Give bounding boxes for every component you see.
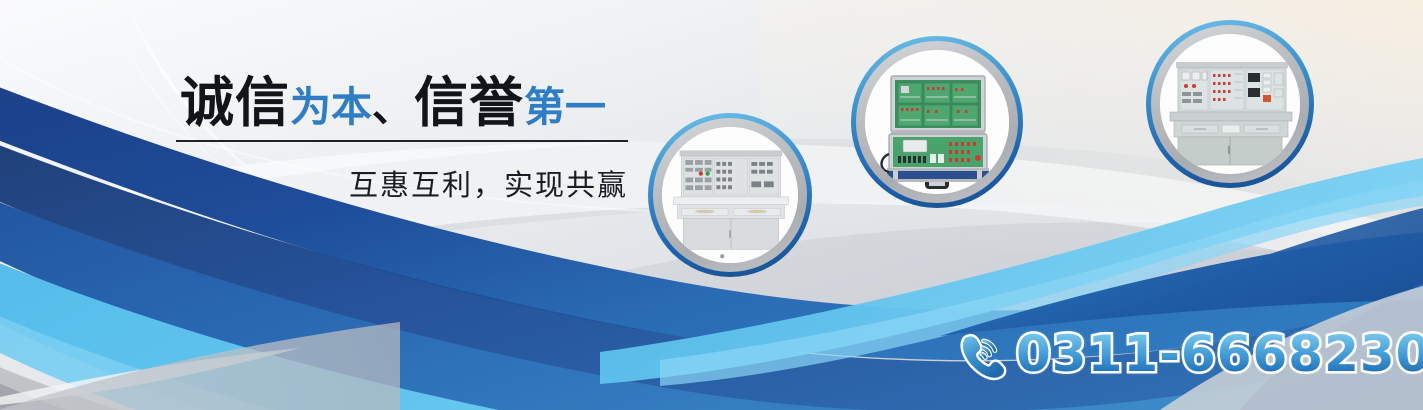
headline-block: 诚信为本、信誉第一 互惠互利，实现共赢 bbox=[176, 76, 628, 204]
headline-part-4: 第一 bbox=[524, 84, 606, 130]
product-image-1 bbox=[662, 127, 798, 263]
promotional-banner: 诚信为本、信誉第一 互惠互利，实现共赢 bbox=[0, 0, 1423, 410]
product-image-3 bbox=[1160, 34, 1300, 174]
headline-part-3: 信誉 bbox=[414, 73, 524, 133]
phone-call-icon bbox=[952, 326, 1008, 382]
product-circle-2[interactable] bbox=[851, 36, 1023, 208]
product-circle-1[interactable] bbox=[648, 113, 812, 277]
subtitle: 互惠互利，实现共赢 bbox=[176, 142, 628, 204]
phone-number-text: 0311-66682303 bbox=[1016, 325, 1423, 383]
headline-part-1: 诚信 bbox=[180, 73, 290, 133]
product-image-2 bbox=[865, 50, 1009, 194]
phone-number[interactable]: 0311-66682303 0311-66682303 bbox=[1016, 329, 1423, 379]
contact-phone-block[interactable]: 0311-66682303 0311-66682303 bbox=[952, 326, 1423, 382]
headline: 诚信为本、信誉第一 bbox=[176, 76, 628, 134]
headline-comma: 、 bbox=[372, 84, 414, 130]
headline-part-2: 为本 bbox=[290, 84, 372, 130]
product-circle-3[interactable] bbox=[1146, 20, 1314, 188]
